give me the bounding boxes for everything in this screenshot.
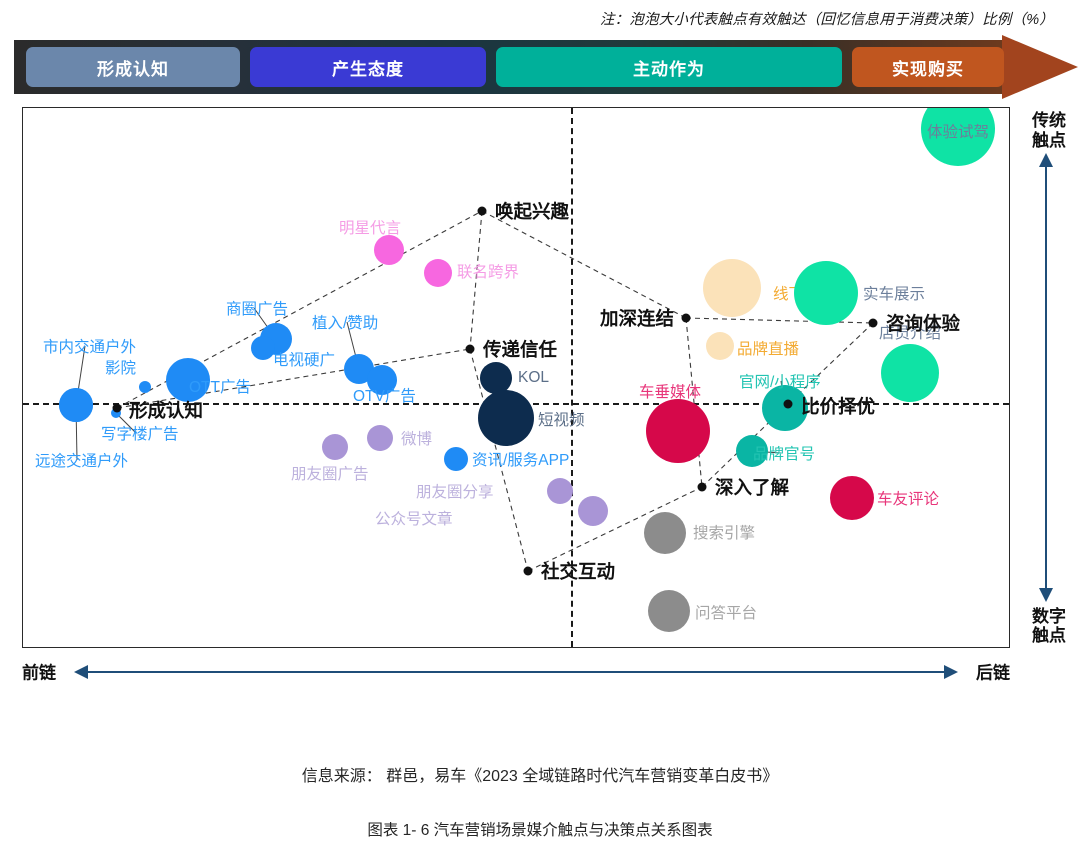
stage-arrow-band: 形成认知产生态度主动作为实现购买 bbox=[14, 40, 1066, 94]
arrow-up-icon bbox=[1039, 153, 1053, 167]
bubble-品牌直播[interactable] bbox=[706, 332, 734, 360]
bubble-label-植入/赞助: 植入/赞助 bbox=[312, 311, 378, 333]
vertical-axis-top-label-line1: 传统 bbox=[1018, 111, 1080, 131]
bubble-label-OTT广告: OTT广告 bbox=[189, 375, 251, 397]
bubble-label-电视硬广: 电视硬广 bbox=[273, 348, 335, 370]
vertical-axis: 传统 触点 数字 触点 bbox=[1018, 107, 1080, 648]
chart-note: 注：泡泡大小代表触点有效触达（回忆信息用于消费决策）比例（%） bbox=[0, 8, 1054, 29]
stage-box-label: 形成认知 bbox=[97, 55, 169, 80]
bubble-label-OTV广告: OTV广告 bbox=[353, 384, 416, 406]
decision-node-label-传递信任: 传递信任 bbox=[483, 336, 557, 362]
decision-node-dot-形成认知[interactable] bbox=[113, 404, 122, 413]
bubble-label-朋友圈广告: 朋友圈广告 bbox=[291, 462, 369, 484]
vertical-axis-top-label-line2: 触点 bbox=[1018, 131, 1080, 151]
horizontal-axis: 前链 后链 bbox=[22, 655, 1010, 689]
bubble-车垂媒体[interactable] bbox=[646, 399, 710, 463]
stage-box-label: 产生态度 bbox=[332, 55, 404, 80]
bubble-搜索引擎[interactable] bbox=[644, 512, 686, 554]
bubble-资讯/服务APP[interactable] bbox=[444, 447, 468, 471]
decision-node-dot-比价择优[interactable] bbox=[784, 400, 793, 409]
bubble-label-公众号文章: 公众号文章 bbox=[375, 507, 453, 529]
bubble-label-资讯/服务APP: 资讯/服务APP bbox=[472, 448, 569, 470]
decision-node-label-咨询体验: 咨询体验 bbox=[886, 310, 960, 336]
bubble-店员介绍[interactable] bbox=[881, 344, 939, 402]
horizontal-axis-line bbox=[88, 671, 944, 673]
decision-node-dot-社交互动[interactable] bbox=[524, 567, 533, 576]
stage-box-1[interactable]: 形成认知 bbox=[26, 47, 240, 87]
vertical-axis-bottom-label-line2: 触点 bbox=[1018, 626, 1080, 646]
stage-box-3[interactable]: 主动作为 bbox=[496, 47, 842, 87]
bubble-label-车垂媒体: 车垂媒体 bbox=[639, 380, 701, 402]
vertical-axis-top-label: 传统 触点 bbox=[1018, 111, 1080, 150]
bubble-朋友圈广告[interactable] bbox=[322, 434, 348, 460]
decision-node-dot-加深连结[interactable] bbox=[682, 314, 691, 323]
bubble-label-品牌官号: 品牌官号 bbox=[753, 442, 815, 464]
bubble-label-朋友圈分享: 朋友圈分享 bbox=[416, 480, 494, 502]
decision-node-label-深入了解: 深入了解 bbox=[715, 474, 789, 500]
vertical-axis-bottom-label-line1: 数字 bbox=[1018, 607, 1080, 627]
decision-node-label-形成认知: 形成认知 bbox=[129, 397, 203, 423]
bubble-短视频[interactable] bbox=[478, 390, 534, 446]
bubble-明星代言[interactable] bbox=[374, 235, 404, 265]
decision-node-label-唤起兴趣: 唤起兴趣 bbox=[495, 198, 569, 224]
source-line: 信息来源： 群邑，易车《2023 全域链路时代汽车营销变革白皮书》 bbox=[0, 762, 1080, 786]
bubble-label-问答平台: 问答平台 bbox=[695, 601, 757, 623]
bubble-label-明星代言: 明星代言 bbox=[339, 216, 401, 238]
vertical-axis-line bbox=[1045, 167, 1047, 588]
stage-box-4[interactable]: 实现购买 bbox=[852, 47, 1004, 87]
stage-arrow-head-icon bbox=[1002, 35, 1078, 99]
bubble-label-市内交通户外: 市内交通户外 bbox=[43, 335, 136, 357]
bubble-影院[interactable] bbox=[139, 381, 151, 393]
bubble-label-联名跨界: 联名跨界 bbox=[457, 260, 519, 282]
bubble-问答平台[interactable] bbox=[648, 590, 690, 632]
bubble-label-车友评论: 车友评论 bbox=[877, 487, 939, 509]
vertical-axis-bottom-label: 数字 触点 bbox=[1018, 607, 1080, 646]
bubble-朋友圈分享[interactable] bbox=[547, 478, 573, 504]
bubble-微博[interactable] bbox=[367, 425, 393, 451]
bubble-label-官网/小程序: 官网/小程序 bbox=[739, 370, 821, 392]
bubble-电视硬广[interactable] bbox=[251, 336, 275, 360]
decision-node-dot-咨询体验[interactable] bbox=[869, 319, 878, 328]
bubble-远途交通户外[interactable] bbox=[59, 388, 93, 422]
decision-node-dot-深入了解[interactable] bbox=[698, 483, 707, 492]
bubble-label-短视频: 短视频 bbox=[538, 408, 585, 430]
bubble-label-微博: 微博 bbox=[401, 427, 432, 449]
bubble-label-KOL: KOL bbox=[518, 369, 549, 387]
bubble-label-远途交通户外: 远途交通户外 bbox=[35, 449, 128, 471]
bubble-label-实车展示: 实车展示 bbox=[863, 282, 925, 304]
bubble-label-商圈广告: 商圈广告 bbox=[226, 297, 288, 319]
decision-node-label-社交互动: 社交互动 bbox=[541, 558, 615, 584]
horizontal-axis-left-label: 前链 bbox=[22, 659, 56, 684]
stage-box-label: 实现购买 bbox=[892, 55, 964, 80]
arrow-left-icon bbox=[74, 665, 88, 679]
bubble-公众号文章[interactable] bbox=[578, 496, 608, 526]
bubble-label-影院: 影院 bbox=[105, 356, 136, 378]
bubble-联名跨界[interactable] bbox=[424, 259, 452, 287]
decision-node-label-比价择优: 比价择优 bbox=[801, 393, 875, 419]
decision-node-dot-传递信任[interactable] bbox=[466, 345, 475, 354]
chart-plot-area: 市内交通户外远途交通户外写字楼广告影院OTT广告商圈广告电视硬广植入/赞助OTV… bbox=[22, 107, 1010, 648]
bubble-实车展示[interactable] bbox=[794, 261, 858, 325]
bubble-车友评论[interactable] bbox=[830, 476, 874, 520]
decision-node-dot-唤起兴趣[interactable] bbox=[478, 207, 487, 216]
arrow-right-icon bbox=[944, 665, 958, 679]
bubble-label-体验试驾: 体验试驾 bbox=[927, 120, 989, 142]
decision-node-label-加深连结: 加深连结 bbox=[600, 305, 674, 331]
arrow-down-icon bbox=[1039, 588, 1053, 602]
stage-box-label: 主动作为 bbox=[633, 55, 705, 80]
figure-caption: 图表 1- 6 汽车营销场景媒介触点与决策点关系图表 bbox=[0, 818, 1080, 840]
bubble-label-写字楼广告: 写字楼广告 bbox=[101, 422, 179, 444]
stage-box-2[interactable]: 产生态度 bbox=[250, 47, 486, 87]
bubble-label-品牌直播: 品牌直播 bbox=[737, 337, 799, 359]
bubble-label-搜索引擎: 搜索引擎 bbox=[693, 521, 755, 543]
horizontal-axis-right-label: 后链 bbox=[976, 659, 1010, 684]
bubble-线下活动[interactable] bbox=[703, 259, 761, 317]
